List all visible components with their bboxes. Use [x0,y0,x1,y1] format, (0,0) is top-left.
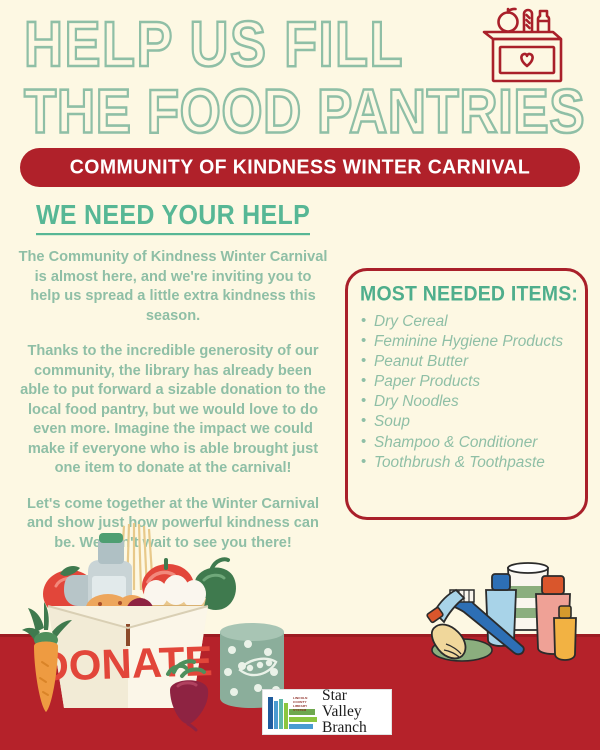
list-item: Peanut Butter [374,352,577,372]
list-item: Feminine Hygiene Products [374,332,577,352]
event-banner-text: COMMUNITY OF KINDNESS WINTER CARNIVAL [70,155,530,179]
poster-canvas: HELP US FILL THE FOOD PANTRIES [0,0,600,750]
items-list: Dry Cereal Feminine Hygiene Products Pea… [348,312,585,472]
library-branch-name: Star Valley Branch [322,688,387,736]
event-banner: COMMUNITY OF KINDNESS WINTER CARNIVAL [20,148,580,187]
library-system-text: LINCOLN COUNTY LIBRARY SYSTEM [293,697,319,713]
library-logo: LINCOLN COUNTY LIBRARY SYSTEM Star Valle… [262,689,392,735]
food-donation-box-icon [468,6,578,88]
library-logo-mark: LINCOLN COUNTY LIBRARY SYSTEM [267,693,319,731]
list-item: Paper Products [374,372,577,392]
headline-line-2: THE FOOD PANTRIES [0,82,600,143]
list-item: Soup [374,412,577,432]
most-needed-items-card: MOST NEEDED ITEMS: Dry Cereal Feminine H… [345,268,588,520]
branch-name-line-2: Branch [322,720,387,736]
body-paragraph-1: The Community of Kindness Winter Carniva… [12,248,334,326]
branch-name-line-1: Star Valley [322,688,387,720]
list-item: Toothbrush & Toothpaste [374,453,577,473]
body-paragraph-2: Thanks to the incredible generosity of o… [12,342,334,479]
list-item: Dry Noodles [374,392,577,412]
subheading: WE NEED YOUR HELP [36,200,310,235]
subheading-wrap: WE NEED YOUR HELP [12,200,334,236]
list-item: Dry Cereal [374,312,577,332]
list-item: Shampoo & Conditioner [374,433,577,453]
left-text-column: WE NEED YOUR HELP The Community of Kindn… [12,200,334,553]
toiletries-illustration [424,552,596,670]
donate-box-produce-illustration: DONATE [0,520,306,750]
items-card-title: MOST NEEDED ITEMS: [360,282,585,307]
